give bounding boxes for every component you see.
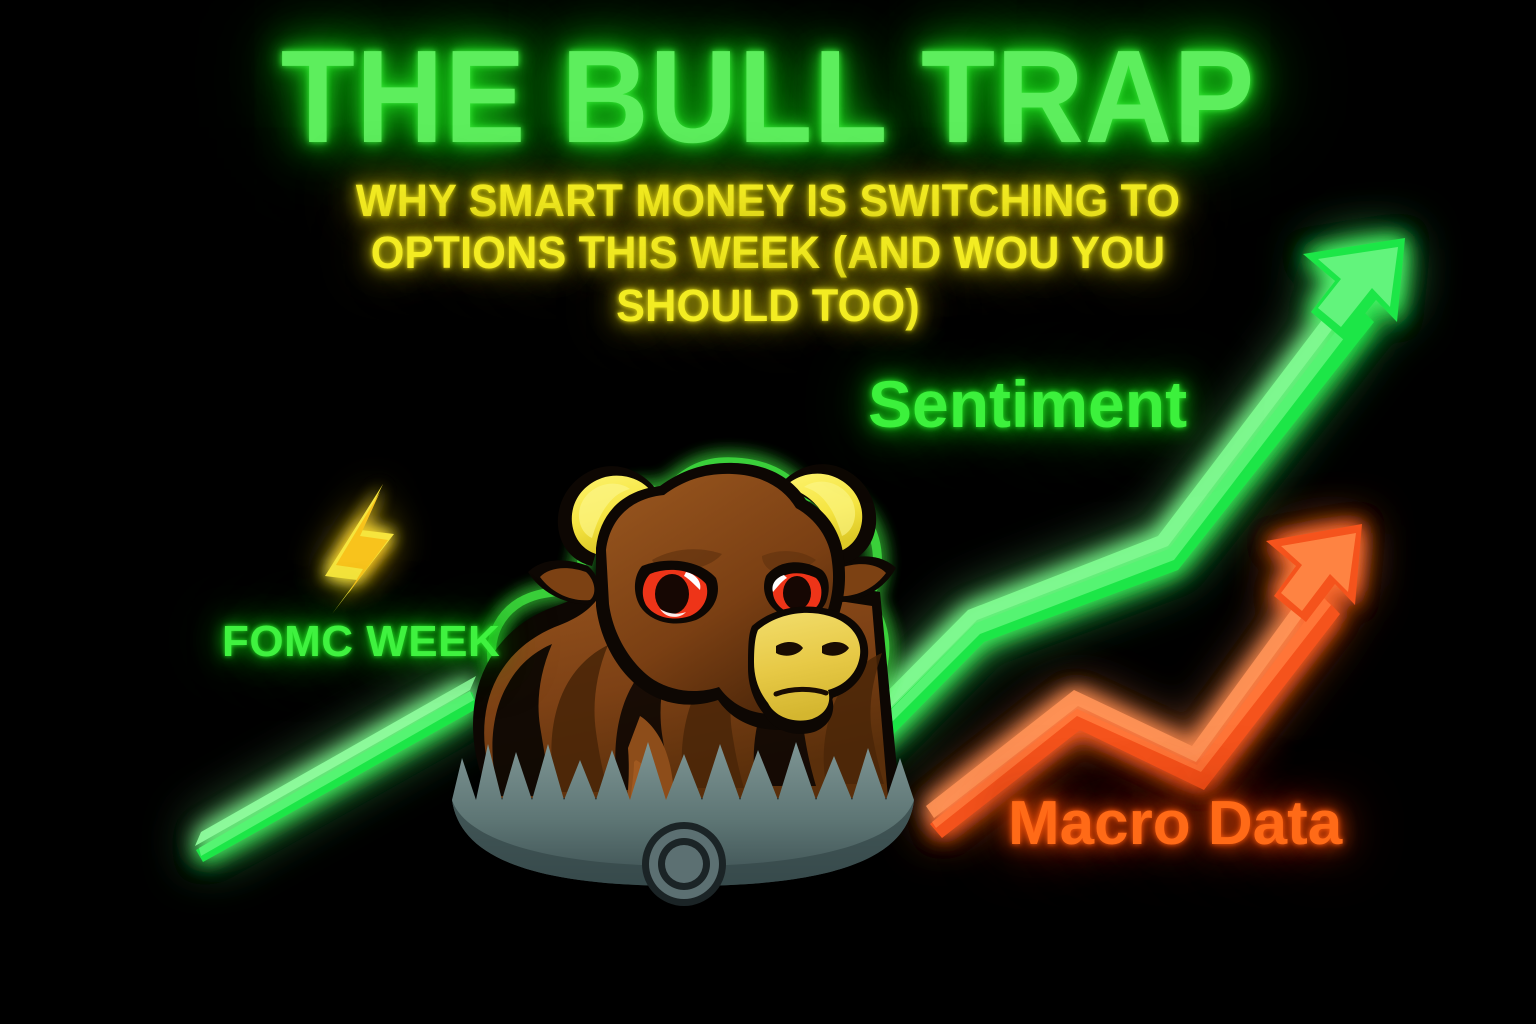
thumbnail-canvas: THE BULL TRAP WHY SMART MONEY IS SWITCHI… [0, 0, 1536, 1024]
lightning-bolt-layer [0, 0, 1536, 1024]
lightning-bolt-icon [325, 484, 394, 614]
